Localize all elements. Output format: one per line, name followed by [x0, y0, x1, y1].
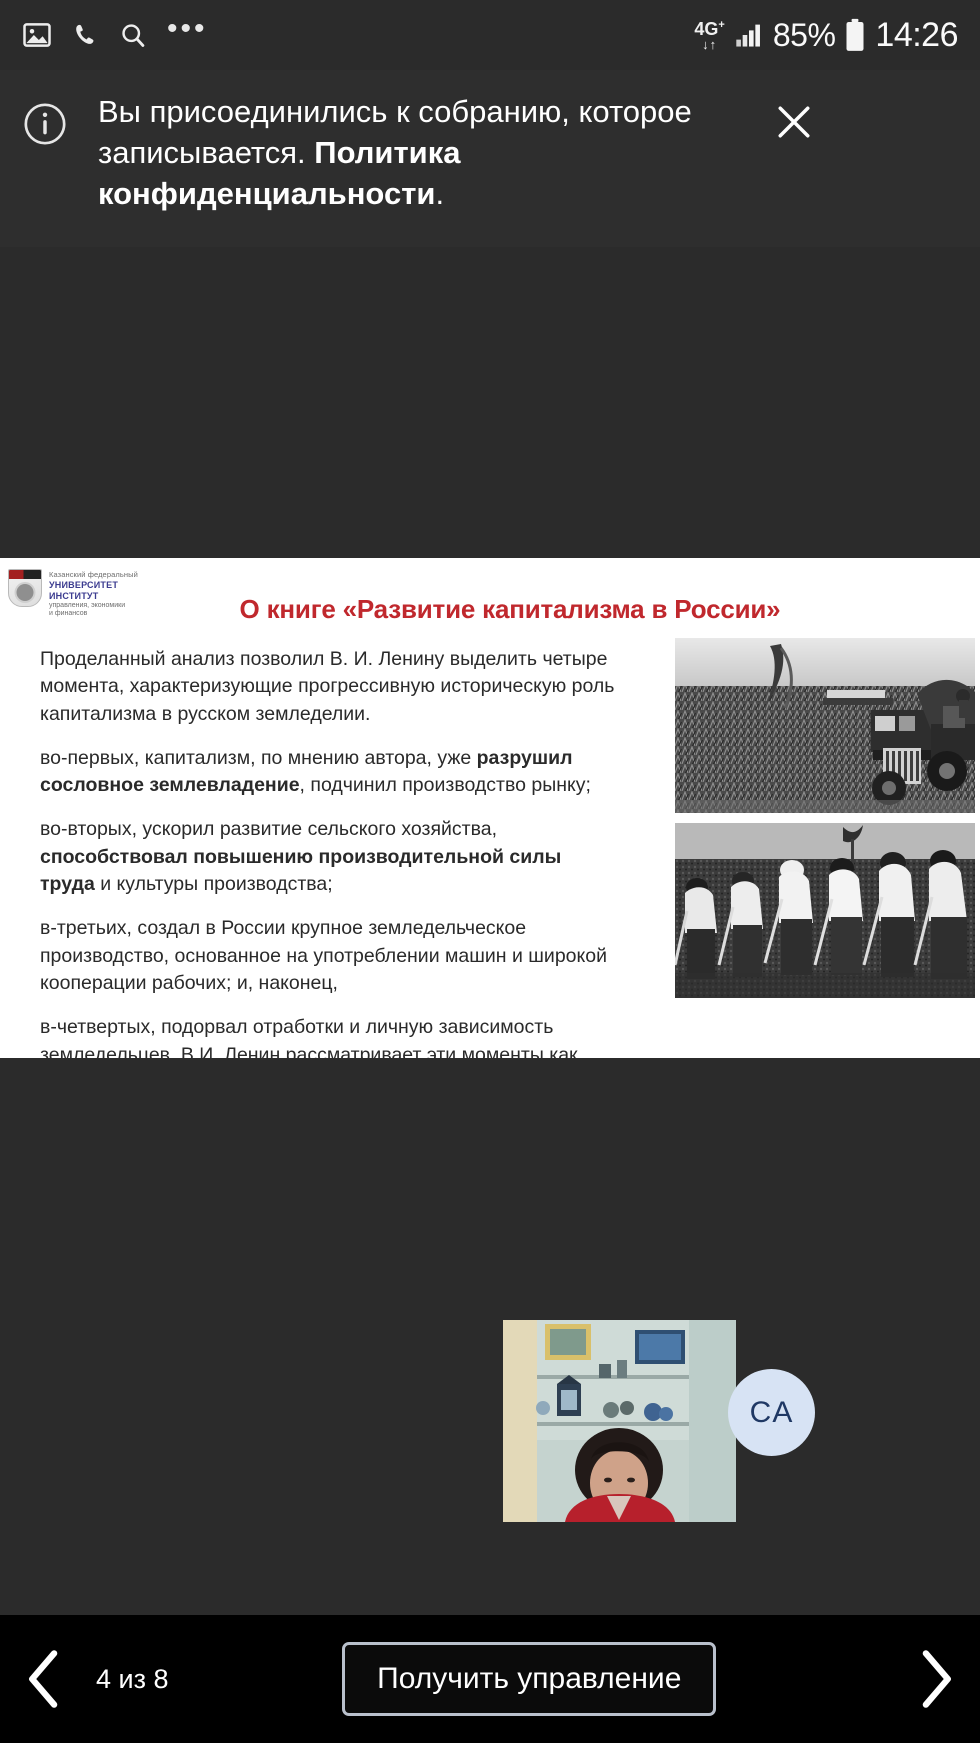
signal-strength-icon [734, 21, 764, 49]
status-bar: ••• 4G+ ↓↑ 85% 14 [0, 0, 980, 70]
presentation-control-bar: 4 из 8 Получить управление [0, 1615, 980, 1743]
chevron-right-icon[interactable] [890, 1615, 980, 1743]
meeting-screen: ••• 4G+ ↓↑ 85% 14 [0, 0, 980, 1743]
slide-bullet: в-четвертых, подорвал отработки и личную… [40, 1014, 620, 1058]
participant-video[interactable] [503, 1320, 736, 1522]
clock-label: 14:26 [875, 16, 958, 55]
info-icon [22, 101, 68, 152]
slide-bullet: во-вторых, ускорил развитие сельского хо… [40, 816, 620, 898]
chevron-left-icon[interactable] [0, 1615, 90, 1743]
battery-icon [844, 18, 866, 52]
status-bar-right-indicators: 4G+ ↓↑ 85% 14:26 [694, 16, 958, 55]
network-type-icon: 4G+ ↓↑ [694, 20, 724, 51]
shared-screen-stage[interactable]: Казанский федеральный УНИВЕРСИТЕТ ИНСТИТ… [0, 247, 980, 1455]
take-control-button[interactable]: Получить управление [342, 1642, 716, 1716]
slide-title: О книге «Развитие капитализма в России» [0, 594, 980, 625]
slide-bullet: Проделанный анализ позволил В. И. Ленину… [40, 646, 620, 728]
recording-notice-text-end: . [435, 176, 444, 211]
status-bar-left-icons: ••• [22, 20, 208, 50]
recording-notice-text: Вы присоединились к собранию, которое за… [68, 92, 768, 215]
presentation-slide[interactable]: Казанский федеральный УНИВЕРСИТЕТ ИНСТИТ… [0, 558, 980, 1058]
slide-body: Проделанный анализ позволил В. И. Ленину… [40, 646, 620, 1058]
slide-bullet: в-третьих, создал в России крупное земле… [40, 915, 620, 997]
battery-percent-label: 85% [773, 17, 836, 54]
page-indicator: 4 из 8 [96, 1664, 169, 1695]
recording-notice-banner: Вы присоединились к собранию, которое за… [0, 70, 980, 247]
avatar[interactable]: CA [728, 1369, 815, 1456]
kfu-logo-line-2: УНИВЕРСИТЕТ [49, 580, 138, 590]
close-icon[interactable] [768, 96, 820, 148]
slide-bullet: во-первых, капитализм, по мнению автора,… [40, 745, 620, 800]
more-icon: ••• [167, 24, 208, 46]
search-icon [119, 21, 147, 49]
phone-icon [72, 22, 99, 49]
photo-harvester-cornfield [675, 638, 975, 813]
image-icon [22, 20, 52, 50]
photo-peasant-women-hoeing [675, 823, 975, 998]
kfu-logo-line-1: Казанский федеральный [49, 570, 138, 579]
